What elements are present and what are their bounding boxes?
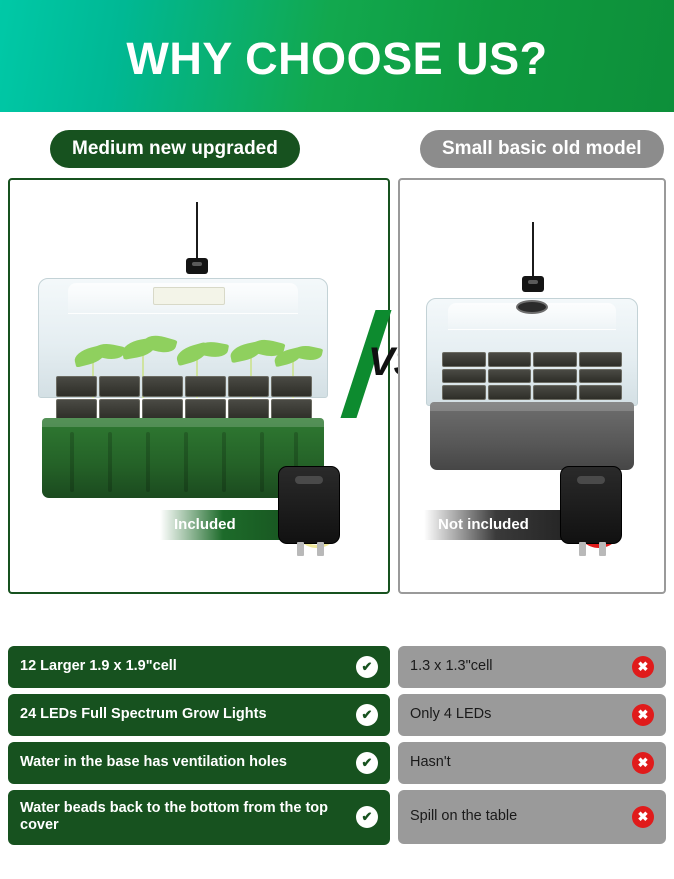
tray-rib: [184, 432, 188, 492]
tray-rib: [70, 432, 74, 492]
feature-text: Spill on the table: [410, 808, 525, 825]
seed-cell: [56, 399, 97, 420]
x-icon: ✖: [632, 656, 654, 678]
cross-glyph: ✖: [638, 809, 649, 825]
usb-connector-icon: [522, 276, 544, 292]
feature-text: 24 LEDs Full Spectrum Grow Lights: [20, 706, 275, 723]
feature-status: ✖: [632, 656, 654, 678]
seed-cell: [228, 399, 269, 420]
feature-text: Water beads back to the bottom from the …: [20, 800, 356, 835]
list-item: Hasn't ✖: [398, 742, 666, 784]
feature-text: Hasn't: [410, 754, 459, 771]
feature-status: ✔: [356, 704, 378, 726]
power-cord: [196, 202, 198, 266]
check-glyph: ✔: [362, 809, 373, 825]
seed-cell: [228, 376, 269, 397]
list-item: Spill on the table ✖: [398, 790, 666, 844]
check-icon: ✔: [356, 806, 378, 828]
left-product-column: Medium new upgraded: [8, 130, 390, 594]
seed-cell: [533, 369, 577, 384]
seed-cell: [142, 399, 183, 420]
list-item: 24 LEDs Full Spectrum Grow Lights ✔: [8, 694, 390, 736]
feature-status: ✔: [356, 752, 378, 774]
tray-rib: [146, 432, 150, 492]
cross-glyph: ✖: [638, 659, 649, 675]
x-icon: ✖: [632, 704, 654, 726]
seed-cell: [99, 376, 140, 397]
seed-cell: [488, 385, 532, 400]
seed-cell: [271, 399, 312, 420]
seed-cell: [142, 376, 183, 397]
x-icon: ✖: [632, 806, 654, 828]
feature-lists: 12 Larger 1.9 x 1.9"cell ✔ 24 LEDs Full …: [0, 646, 674, 851]
tray-rib: [260, 432, 264, 492]
left-product-illustration: Included ✔: [10, 180, 388, 592]
list-item: 12 Larger 1.9 x 1.9"cell ✔: [8, 646, 390, 688]
infographic-page: WHY CHOOSE US? Medium new upgraded: [0, 0, 674, 879]
tray-rib: [222, 432, 226, 492]
feature-status: ✖: [632, 752, 654, 774]
check-glyph: ✔: [362, 659, 373, 675]
not-included-badge-label: Not included: [438, 516, 529, 533]
check-icon: ✔: [356, 704, 378, 726]
list-item: 1.3 x 1.3"cell ✖: [398, 646, 666, 688]
tray-rib: [108, 432, 112, 492]
feature-text: Water in the base has ventilation holes: [20, 754, 295, 771]
seed-cell: [579, 369, 623, 384]
seed-cell: [579, 352, 623, 367]
right-product-tag: Small basic old model: [420, 130, 664, 168]
left-product-panel: Included ✔: [8, 178, 390, 594]
x-icon: ✖: [632, 752, 654, 774]
tray-rim: [42, 418, 324, 427]
power-cord: [532, 222, 534, 284]
adapter-prong: [317, 542, 324, 556]
adapter-usb-port: [295, 476, 323, 484]
power-adapter: [278, 466, 340, 544]
check-icon: ✔: [356, 656, 378, 678]
check-icon: ✔: [356, 752, 378, 774]
adapter-usb-port: [577, 476, 605, 484]
check-glyph: ✔: [362, 707, 373, 723]
feature-text: 1.3 x 1.3"cell: [410, 658, 501, 675]
list-item: Water in the base has ventilation holes …: [8, 742, 390, 784]
seed-cell: [271, 376, 312, 397]
cross-glyph: ✖: [638, 755, 649, 771]
feature-text: Only 4 LEDs: [410, 706, 499, 723]
list-item: Water beads back to the bottom from the …: [8, 790, 390, 845]
check-glyph: ✔: [362, 755, 373, 771]
left-product-tag: Medium new upgraded: [50, 130, 300, 168]
grey-base-tray: [430, 402, 634, 470]
feature-status: ✖: [632, 806, 654, 828]
led-light-panel: [153, 287, 225, 305]
included-badge-label: Included: [174, 516, 236, 533]
seed-cell: [533, 385, 577, 400]
adapter-prong: [599, 542, 606, 556]
list-item: Only 4 LEDs ✖: [398, 694, 666, 736]
seed-cell: [99, 399, 140, 420]
right-feature-list: 1.3 x 1.3"cell ✖ Only 4 LEDs ✖ Hasn't: [398, 646, 666, 851]
seed-cell-grid: [56, 376, 312, 420]
right-product-column: Small basic old model: [398, 130, 666, 594]
seed-cell: [442, 369, 486, 384]
feature-status: ✔: [356, 656, 378, 678]
seed-cell: [442, 385, 486, 400]
comparison-section: Medium new upgraded: [0, 112, 674, 632]
feature-status: ✖: [632, 704, 654, 726]
right-product-panel: Not included ✖: [398, 178, 666, 594]
adapter-prong: [297, 542, 304, 556]
seed-cell: [533, 352, 577, 367]
right-product-illustration: Not included ✖: [400, 180, 664, 592]
left-feature-list: 12 Larger 1.9 x 1.9"cell ✔ 24 LEDs Full …: [8, 646, 390, 851]
adapter-prong: [579, 542, 586, 556]
seed-cell: [579, 385, 623, 400]
tray-rim: [430, 402, 634, 411]
power-adapter: [560, 466, 622, 544]
seed-cell: [56, 376, 97, 397]
feature-status: ✔: [356, 806, 378, 828]
seed-cell: [488, 352, 532, 367]
seed-cell-grid: [442, 352, 622, 400]
feature-text: 12 Larger 1.9 x 1.9"cell: [20, 658, 185, 675]
header-banner: WHY CHOOSE US?: [0, 0, 674, 112]
seed-cell: [185, 399, 226, 420]
seed-cell: [488, 369, 532, 384]
vent-hole: [516, 300, 548, 314]
seed-cell: [185, 376, 226, 397]
usb-connector-icon: [186, 258, 208, 274]
seed-cell: [442, 352, 486, 367]
cross-glyph: ✖: [638, 707, 649, 723]
page-title: WHY CHOOSE US?: [126, 36, 547, 81]
